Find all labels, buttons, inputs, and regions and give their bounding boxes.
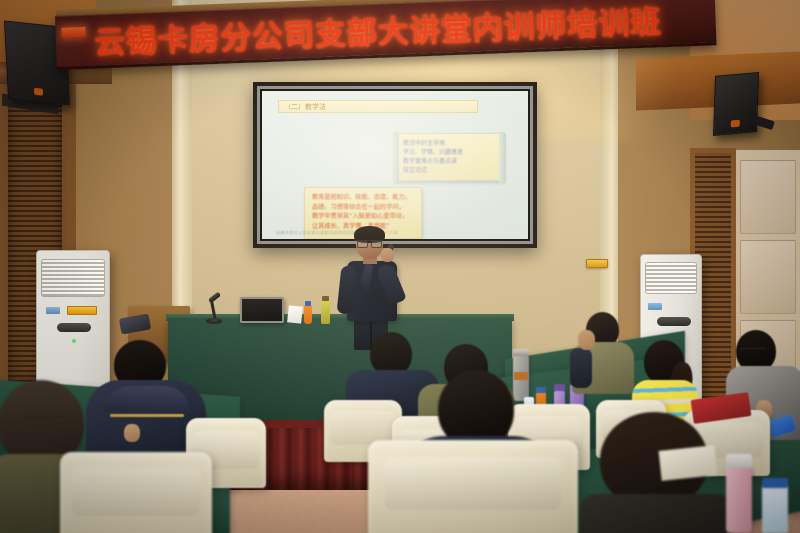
person-6-hand [578,330,595,350]
glasses-icon [24,416,64,426]
speaker-led-left [34,88,43,96]
slide-scroll-box: 教法中的主导地 学法、学情、兴趣激发 教学重难点与重点讲 授互动式 [395,133,503,181]
ac-power-led-left [72,339,76,343]
scroll-line-3: 教学重难点与重点讲 [403,157,495,166]
bottle-cap-blue-front [762,478,788,488]
laptop-icon [240,297,284,323]
ac-vent-right-top [645,262,698,294]
scroll-line-4: 授互动式 [403,166,495,175]
presenter-hand [381,248,394,262]
person-6-arm [570,348,592,388]
conference-hall-photo: （二）教学法 教法中的主导地 学法、学情、兴趣激发 教学重难点与重点讲 授互动式… [0,0,800,533]
ac-vent-left-top [41,259,104,297]
orange-drink-bottle [304,305,312,324]
thermos-lid-pink [726,454,752,468]
water-bottle-front-right [762,486,788,533]
bottle-cap-brown [322,296,329,301]
projection-screen: （二）教学法 教法中的主导地 学法、学情、兴趣激发 教学重难点与重点讲 授互动式… [253,82,537,248]
microphone-base [206,318,222,324]
pink-thermos [726,466,752,533]
person-9-shirt [580,494,732,533]
scroll-line-2: 学法、学情、兴趣激发 [403,148,495,157]
chair-front-center [368,440,578,533]
thermos-lid-1 [513,349,529,356]
paper-sheet [287,305,303,323]
ac-warning-label-left [67,306,97,315]
redbox-line-3: 教学中贯穿其“入脑更如心里带动， [312,212,414,222]
screen-border: （二）教学法 教法中的主导地 学法、学情、兴趣激发 教学重难点与重点讲 授互动式… [257,86,533,244]
ac-display-right [657,317,691,326]
redbox-line-2: 品德、习惯等综合在一起的学问， [312,203,414,213]
bottle-cap-blue [305,301,311,306]
screen-surface: （二）教学法 教法中的主导地 学法、学情、兴趣激发 教学重难点与重点讲 授互动式… [262,91,528,239]
ac-brand-badge-left [46,307,60,314]
yellow-drink-bottle [321,300,330,324]
notebook-front-right [659,445,718,481]
slide-title-text: （二）教学法 [279,102,326,112]
scroll-line-1: 教法中的主导地 [403,139,495,148]
exit-sign-icon [586,259,608,268]
slide-title-box: （二）教学法 [278,100,478,113]
redbox-line-1: 教育是把知识、技能、态度、能力、 [312,193,414,203]
chair-front-left [60,452,212,533]
glasses-icon [357,240,382,245]
presenter [330,228,418,348]
speaker-led-right [731,120,740,128]
ac-display-left [57,323,91,332]
ac-brand-badge-right [648,303,662,310]
wall-speaker-right-icon [713,72,759,136]
glasses-icon [740,348,766,355]
